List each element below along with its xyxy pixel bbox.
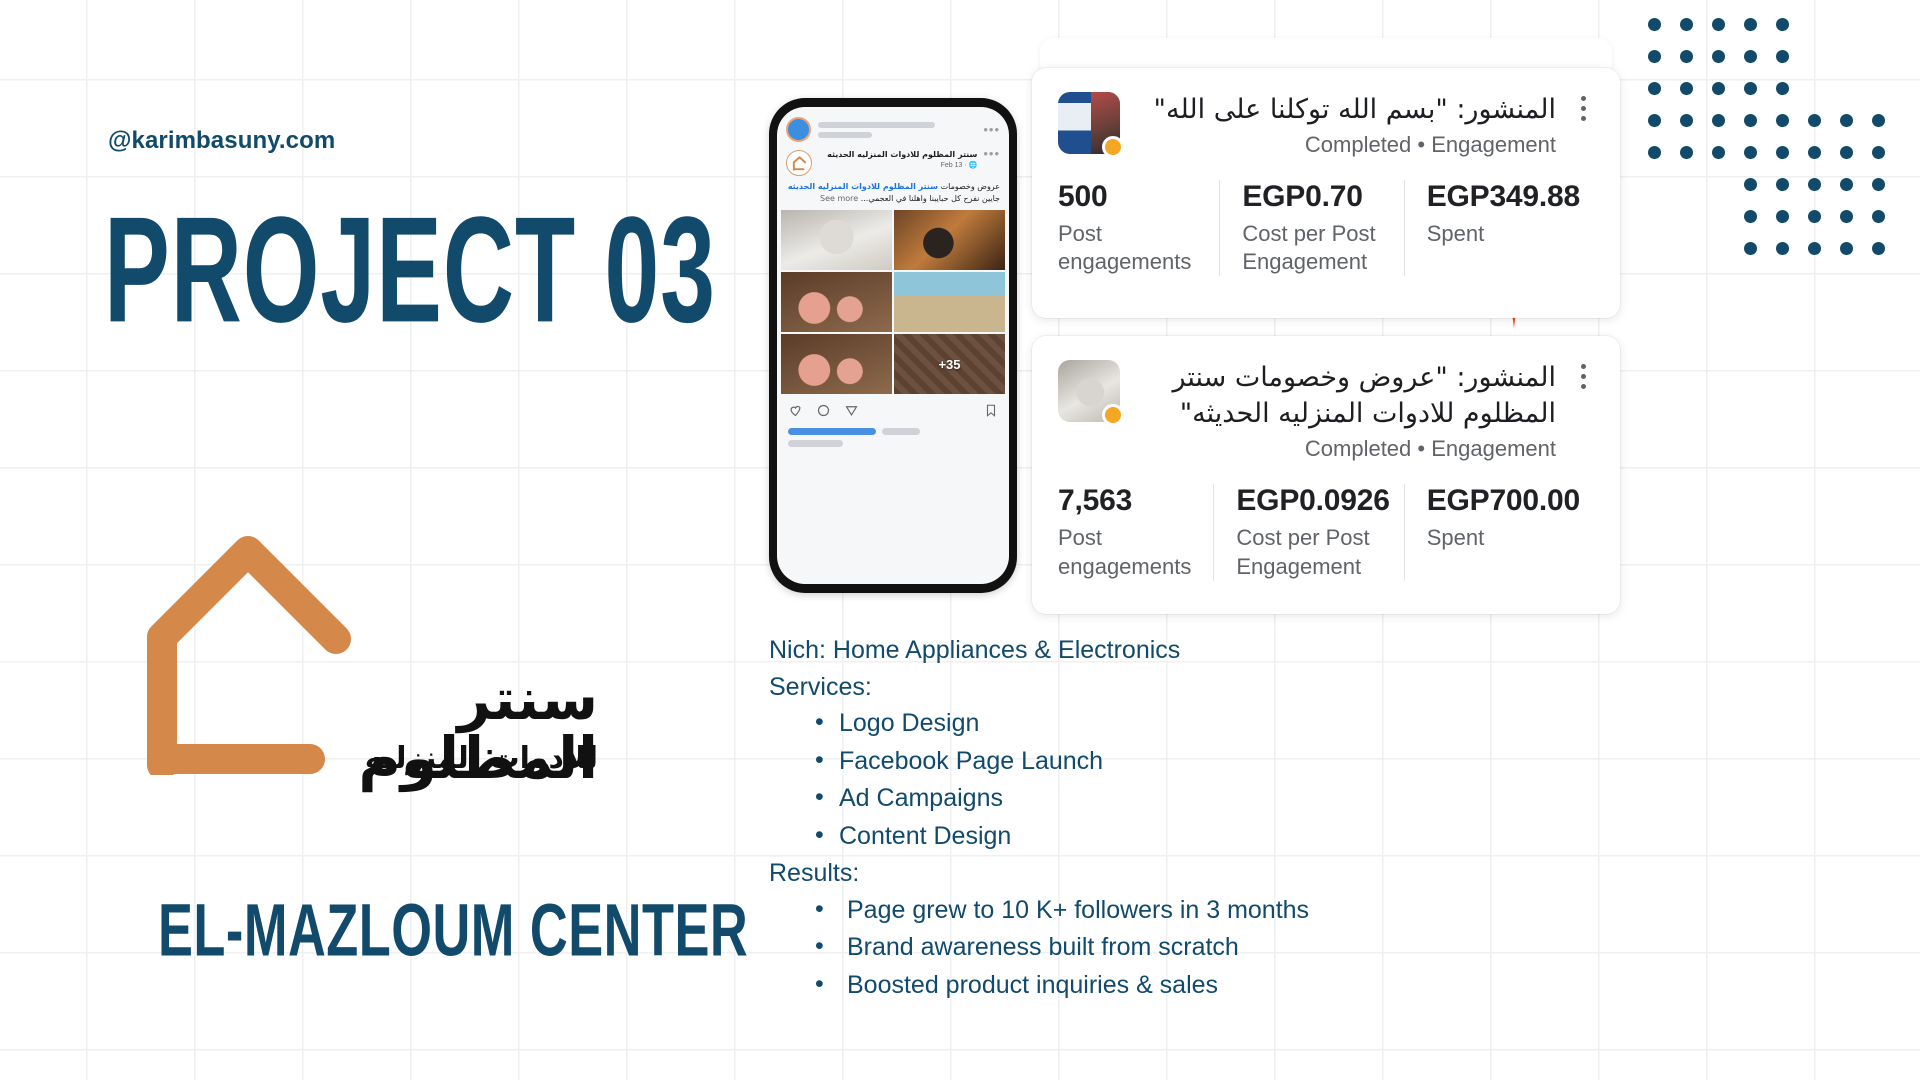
send-icon[interactable] [844, 403, 859, 418]
objective-text: Engagement [1431, 132, 1556, 157]
pattern-dot [1744, 114, 1757, 127]
more-photos-badge: +35 [894, 334, 1005, 394]
left-panel: @karimbasuny.com PROJECT 03 سنتر المظلوم… [0, 0, 620, 1080]
stat-label: Cost per Post Engagement [1242, 220, 1389, 276]
pattern-dot [1744, 178, 1757, 191]
pattern-dot [1776, 82, 1789, 95]
post-photo[interactable] [894, 272, 1005, 332]
placeholder-bar [788, 440, 843, 447]
card-status-line: Completed • Engagement [1136, 132, 1556, 158]
pattern-dot [1840, 114, 1853, 127]
post-photo[interactable] [781, 210, 892, 270]
card-title: المنشور: "بسم الله توكلنا على الله" [1136, 92, 1556, 128]
post-thumbnail-2 [1058, 360, 1120, 422]
list-item: Ad Campaigns [815, 780, 1509, 818]
pattern-dot [1744, 82, 1757, 95]
pattern-dot [1872, 210, 1885, 223]
pattern-dot [1808, 242, 1821, 255]
caption-lead: عروض وخصومات [941, 182, 1000, 191]
placeholder-bar [818, 122, 935, 128]
post-photo[interactable] [781, 272, 892, 332]
pattern-dot [1808, 114, 1821, 127]
pattern-dot [1712, 114, 1725, 127]
stat-label: Cost per Post Engagement [1236, 524, 1389, 580]
pattern-dot [1808, 210, 1821, 223]
card-stats-row: 7,563 Post engagements EGP0.0926 Cost pe… [1058, 484, 1594, 580]
ad-metric-card[interactable]: المنشور: "بسم الله توكلنا على الله" Comp… [1032, 68, 1620, 318]
pattern-dot [1776, 242, 1789, 255]
page-name[interactable]: سنتر المظلوم للادوات المنزليه الحديثه [818, 150, 977, 160]
card-status-line: Completed • Engagement [1136, 436, 1556, 462]
pattern-dot [1776, 18, 1789, 31]
stat-value: EGP349.88 [1427, 180, 1580, 214]
pattern-dot [1776, 178, 1789, 191]
pattern-dot [1648, 82, 1661, 95]
stat-item: EGP700.00 Spent [1404, 484, 1594, 580]
pattern-dot [1680, 146, 1693, 159]
card-stats-row: 500 Post engagements EGP0.70 Cost per Po… [1058, 180, 1594, 276]
pattern-dot [1744, 146, 1757, 159]
card-title: المنشور: "عروض وخصومات سنتر المظلوم للاد… [1136, 360, 1556, 432]
placeholder-bars [818, 122, 976, 138]
card-header: المنشور: "عروض وخصومات سنتر المظلوم للاد… [1058, 360, 1594, 462]
stat-value: EGP0.0926 [1236, 484, 1389, 518]
pattern-dot [1840, 210, 1853, 223]
status-text: Completed [1305, 436, 1411, 461]
services-heading: Services: [769, 669, 1509, 706]
post-photo-more[interactable]: +35 [894, 334, 1005, 394]
results-list: Page grew to 10 K+ followers in 3 months… [815, 892, 1509, 1005]
pattern-dot [1776, 114, 1789, 127]
stat-label: Post engagements [1058, 220, 1205, 276]
post-overflow-menu-icon[interactable]: ••• [983, 150, 1000, 157]
post-photo[interactable] [894, 210, 1005, 270]
stat-item: EGP0.70 Cost per Post Engagement [1219, 180, 1403, 276]
phone-app-topbar: ••• [777, 107, 1009, 148]
placeholder-bar [818, 132, 872, 138]
list-item: Logo Design [815, 705, 1509, 743]
pattern-dot [1840, 146, 1853, 159]
stat-label: Post engagements [1058, 524, 1199, 580]
list-item: Brand awareness built from scratch [815, 929, 1509, 967]
comment-icon[interactable] [816, 403, 831, 418]
post-header: سنتر المظلوم للادوات المنزليه الحديثه Fe… [777, 148, 1009, 179]
post-action-bar [777, 394, 1009, 424]
results-heading: Results: [769, 855, 1509, 892]
placeholder-bar [882, 428, 920, 435]
logo-arabic-sub: للأدوات المنزليه [258, 741, 598, 776]
caption-link[interactable]: سنتر المظلوم للادوات المنزليه الحديثه [788, 182, 938, 191]
pattern-dot [1872, 146, 1885, 159]
stat-label: Spent [1427, 524, 1580, 552]
see-more-link[interactable]: See more [820, 194, 858, 203]
project-details: Nich: Home Appliances & Electronics Serv… [769, 632, 1509, 1004]
post-footer-placeholders [777, 424, 1009, 447]
pattern-dot [1840, 178, 1853, 191]
pattern-dot [1776, 210, 1789, 223]
stat-item: 500 Post engagements [1058, 180, 1219, 276]
post-caption: عروض وخصومات سنتر المظلوم للادوات المنزل… [777, 179, 1009, 210]
ad-metric-card[interactable]: المنشور: "عروض وخصومات سنتر المظلوم للاد… [1032, 336, 1620, 614]
pattern-dot [1808, 146, 1821, 159]
pattern-dot [1744, 50, 1757, 63]
pattern-dot [1648, 146, 1661, 159]
pattern-dot [1872, 242, 1885, 255]
card-header: المنشور: "بسم الله توكلنا على الله" Comp… [1058, 92, 1594, 158]
status-badge [1102, 404, 1124, 426]
pattern-dot [1648, 114, 1661, 127]
placeholder-bar [788, 428, 876, 435]
pattern-dot [1648, 50, 1661, 63]
stat-value: EGP700.00 [1427, 484, 1580, 518]
list-item: Content Design [815, 818, 1509, 856]
overflow-menu-icon[interactable]: ••• [983, 126, 1000, 133]
stat-label: Spent [1427, 220, 1580, 248]
status-text: Completed [1305, 132, 1411, 157]
phone-screen: ••• سنتر المظلوم للادوات المنزليه الحديث… [777, 107, 1009, 584]
pattern-dot [1712, 82, 1725, 95]
post-photo-grid: +35 [777, 210, 1009, 394]
social-handle: @karimbasuny.com [108, 127, 335, 155]
pattern-dot [1872, 178, 1885, 191]
brand-name: EL-MAZLOUM CENTER [158, 888, 748, 974]
list-item: Facebook Page Launch [815, 743, 1509, 781]
caption-rest: جايين نفرح كل حبايبنا واهلنا في العجمي..… [861, 194, 1000, 203]
card-title-wrap: المنشور: "بسم الله توكلنا على الله" Comp… [1136, 92, 1556, 158]
phone-mockup: ••• سنتر المظلوم للادوات المنزليه الحديث… [769, 98, 1017, 593]
pattern-dot [1680, 18, 1693, 31]
stat-value: 7,563 [1058, 484, 1199, 518]
stat-value: EGP0.70 [1242, 180, 1389, 214]
pattern-dot [1872, 114, 1885, 127]
heart-icon[interactable] [788, 403, 803, 418]
stat-item: EGP349.88 Spent [1404, 180, 1594, 276]
page-avatar[interactable] [786, 150, 812, 176]
post-date: Feb 13 [941, 162, 963, 169]
pattern-dot [1680, 82, 1693, 95]
pattern-dot [1840, 242, 1853, 255]
objective-text: Engagement [1431, 436, 1556, 461]
pattern-dot [1776, 50, 1789, 63]
pattern-dot [1648, 18, 1661, 31]
card-title-wrap: المنشور: "عروض وخصومات سنتر المظلوم للاد… [1136, 360, 1556, 462]
list-item: Boosted product inquiries & sales [815, 967, 1509, 1005]
privacy-globe-icon: · 🌐 [964, 162, 977, 169]
post-thumbnail-1 [1058, 92, 1120, 154]
kebab-menu-icon[interactable] [1572, 360, 1594, 389]
status-separator: • [1417, 132, 1425, 157]
pattern-dot [1680, 50, 1693, 63]
pattern-dot [1712, 18, 1725, 31]
pattern-dot [1712, 146, 1725, 159]
status-badge [1102, 136, 1124, 158]
bookmark-icon[interactable] [984, 403, 998, 418]
page-info: سنتر المظلوم للادوات المنزليه الحديثه Fe… [818, 150, 977, 169]
stat-item: 7,563 Post engagements [1058, 484, 1213, 580]
kebab-menu-icon[interactable] [1572, 92, 1594, 121]
post-photo[interactable] [781, 334, 892, 394]
list-item: Page grew to 10 K+ followers in 3 months [815, 892, 1509, 930]
pattern-dot [1808, 178, 1821, 191]
pattern-dot [1744, 210, 1757, 223]
story-avatar [786, 117, 811, 142]
services-list: Logo Design Facebook Page Launch Ad Camp… [815, 705, 1509, 855]
pattern-dot [1744, 18, 1757, 31]
stat-item: EGP0.0926 Cost per Post Engagement [1213, 484, 1403, 580]
post-meta: Feb 13 · 🌐 [818, 161, 977, 169]
page-title: PROJECT 03 [104, 195, 716, 346]
pattern-dot [1712, 50, 1725, 63]
pattern-dot [1680, 114, 1693, 127]
pattern-dot [1776, 146, 1789, 159]
status-separator: • [1417, 436, 1425, 461]
niche-line: Nich: Home Appliances & Electronics [769, 632, 1509, 669]
stat-value: 500 [1058, 180, 1205, 214]
pattern-dot [1744, 242, 1757, 255]
brand-logo: سنتر المظلوم للأدوات المنزليه [140, 515, 600, 845]
